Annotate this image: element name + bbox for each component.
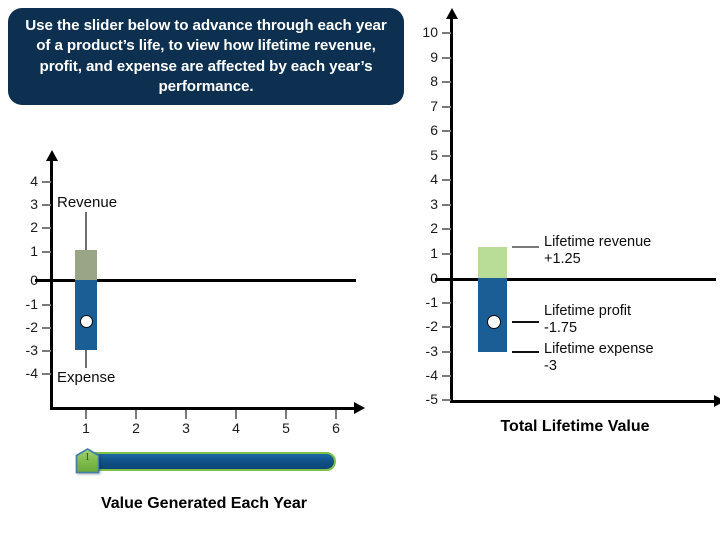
left-chart-ytick-label: -1 [6, 297, 38, 311]
right-chart-ytick [442, 130, 451, 132]
year-slider[interactable]: I [75, 448, 337, 474]
right-chart-ytick [442, 32, 451, 34]
left-chart-ytick-label: 2 [6, 220, 38, 234]
left-chart-profit-dot [80, 315, 93, 328]
right-chart-ytick-label: 4 [406, 172, 438, 186]
slide-canvas: Use the slider below to advance through … [0, 0, 720, 540]
left-chart-xtick-label: 4 [221, 421, 251, 435]
right-chart-ytick [442, 228, 451, 230]
right-chart-revenue-callout-name: Lifetime revenue [544, 234, 651, 251]
left-chart-xtick [185, 410, 187, 419]
right-chart-profit-callout-name: Lifetime profit [544, 303, 631, 320]
left-chart-revenue-bar [75, 250, 97, 280]
left-chart-xtick [285, 410, 287, 419]
year-slider-track[interactable] [80, 452, 336, 471]
right-chart-revenue-leader-line [512, 246, 539, 248]
right-chart-ytick-label: 5 [406, 148, 438, 162]
left-chart-ytick-label: -2 [6, 320, 38, 334]
right-chart-ytick-label: 1 [406, 246, 438, 260]
right-chart-ytick [442, 253, 451, 255]
right-chart-ytick [442, 57, 451, 59]
year-slider-handle[interactable]: I [75, 448, 100, 474]
right-chart-profit-callout: Lifetime profit -1.75 [544, 303, 631, 337]
right-chart-ytick-label: -3 [406, 344, 438, 358]
right-chart-y-axis [450, 18, 453, 403]
right-chart-ytick [442, 399, 451, 401]
left-chart-title: Value Generated Each Year [30, 495, 378, 513]
right-chart-lifetime-profit-dot [487, 315, 501, 329]
right-chart-title: Total Lifetime Value [430, 418, 720, 436]
right-chart-ytick [442, 302, 451, 304]
right-chart-x-axis [450, 400, 716, 403]
instruction-banner-text: Use the slider below to advance through … [8, 16, 404, 96]
right-chart-ytick [442, 375, 451, 377]
right-chart-ytick [442, 179, 451, 181]
right-chart-ytick-label: -1 [406, 295, 438, 309]
right-chart-ytick-label: 2 [406, 221, 438, 235]
left-chart-ytick-label: 1 [6, 244, 38, 258]
left-chart-ytick [42, 304, 51, 306]
left-chart-ytick [42, 204, 51, 206]
left-chart-xtick-label: 1 [71, 421, 101, 435]
right-chart-ytick-label: 9 [406, 50, 438, 64]
right-chart-expense-callout: Lifetime expense -3 [544, 341, 654, 375]
left-chart-x-axis-arrow [354, 402, 365, 414]
right-chart-ytick-label: -5 [406, 392, 438, 406]
instruction-banner: Use the slider below to advance through … [8, 8, 404, 105]
left-chart-xtick [85, 410, 87, 419]
left-chart-ytick-label: 0 [6, 273, 38, 287]
left-chart-ytick-label: 3 [6, 197, 38, 211]
right-chart-ytick [442, 326, 451, 328]
left-chart-ytick [42, 327, 51, 329]
left-chart-ytick [42, 227, 51, 229]
right-chart-revenue-callout-value: +1.25 [544, 251, 651, 268]
left-chart-xtick [135, 410, 137, 419]
left-chart-ytick [42, 350, 51, 352]
right-chart-ytick-label: 8 [406, 74, 438, 88]
left-chart-expense-leader-line [85, 350, 87, 368]
right-chart-ytick-label: -2 [406, 319, 438, 333]
left-chart-ytick-label: 4 [6, 174, 38, 188]
left-chart-xtick-label: 2 [121, 421, 151, 435]
right-chart-ytick-label: -4 [406, 368, 438, 382]
left-chart-revenue-leader-line [85, 212, 87, 251]
left-chart-ytick-label: -3 [6, 343, 38, 357]
left-chart-ytick [42, 251, 51, 253]
left-chart-ytick [42, 373, 51, 375]
slider-handle-pin-icon [75, 448, 100, 474]
left-chart-ytick [42, 181, 51, 183]
right-chart-profit-leader-line [512, 321, 539, 323]
left-chart-xtick-label: 3 [171, 421, 201, 435]
right-chart-ytick [442, 106, 451, 108]
right-chart-x-axis-arrow [714, 395, 720, 407]
right-chart-ytick [442, 81, 451, 83]
right-chart-ytick [442, 351, 451, 353]
right-chart-ytick [442, 204, 451, 206]
right-chart-revenue-callout: Lifetime revenue +1.25 [544, 234, 651, 268]
left-chart-x-axis [50, 407, 356, 410]
right-chart-ytick-label: 7 [406, 99, 438, 113]
right-chart-ytick-label: 6 [406, 123, 438, 137]
left-chart-revenue-label: Revenue [57, 194, 117, 211]
right-chart-expense-leader-line [512, 351, 539, 353]
right-chart-expense-callout-name: Lifetime expense [544, 341, 654, 358]
left-chart-ytick-label: -4 [6, 366, 38, 380]
right-chart-expense-callout-value: -3 [544, 358, 654, 375]
left-chart-xtick [235, 410, 237, 419]
right-chart-ytick-label: 3 [406, 197, 438, 211]
left-chart-xtick-label: 5 [271, 421, 301, 435]
left-chart-expense-label: Expense [57, 369, 115, 386]
right-chart-ytick [442, 155, 451, 157]
left-chart-xtick [335, 410, 337, 419]
left-chart-xtick-label: 6 [321, 421, 351, 435]
right-chart-ytick-label: 0 [406, 271, 438, 285]
right-chart-profit-callout-value: -1.75 [544, 320, 631, 337]
right-chart-lifetime-revenue-bar [478, 247, 507, 278]
right-chart-ytick-label: 10 [406, 25, 438, 39]
